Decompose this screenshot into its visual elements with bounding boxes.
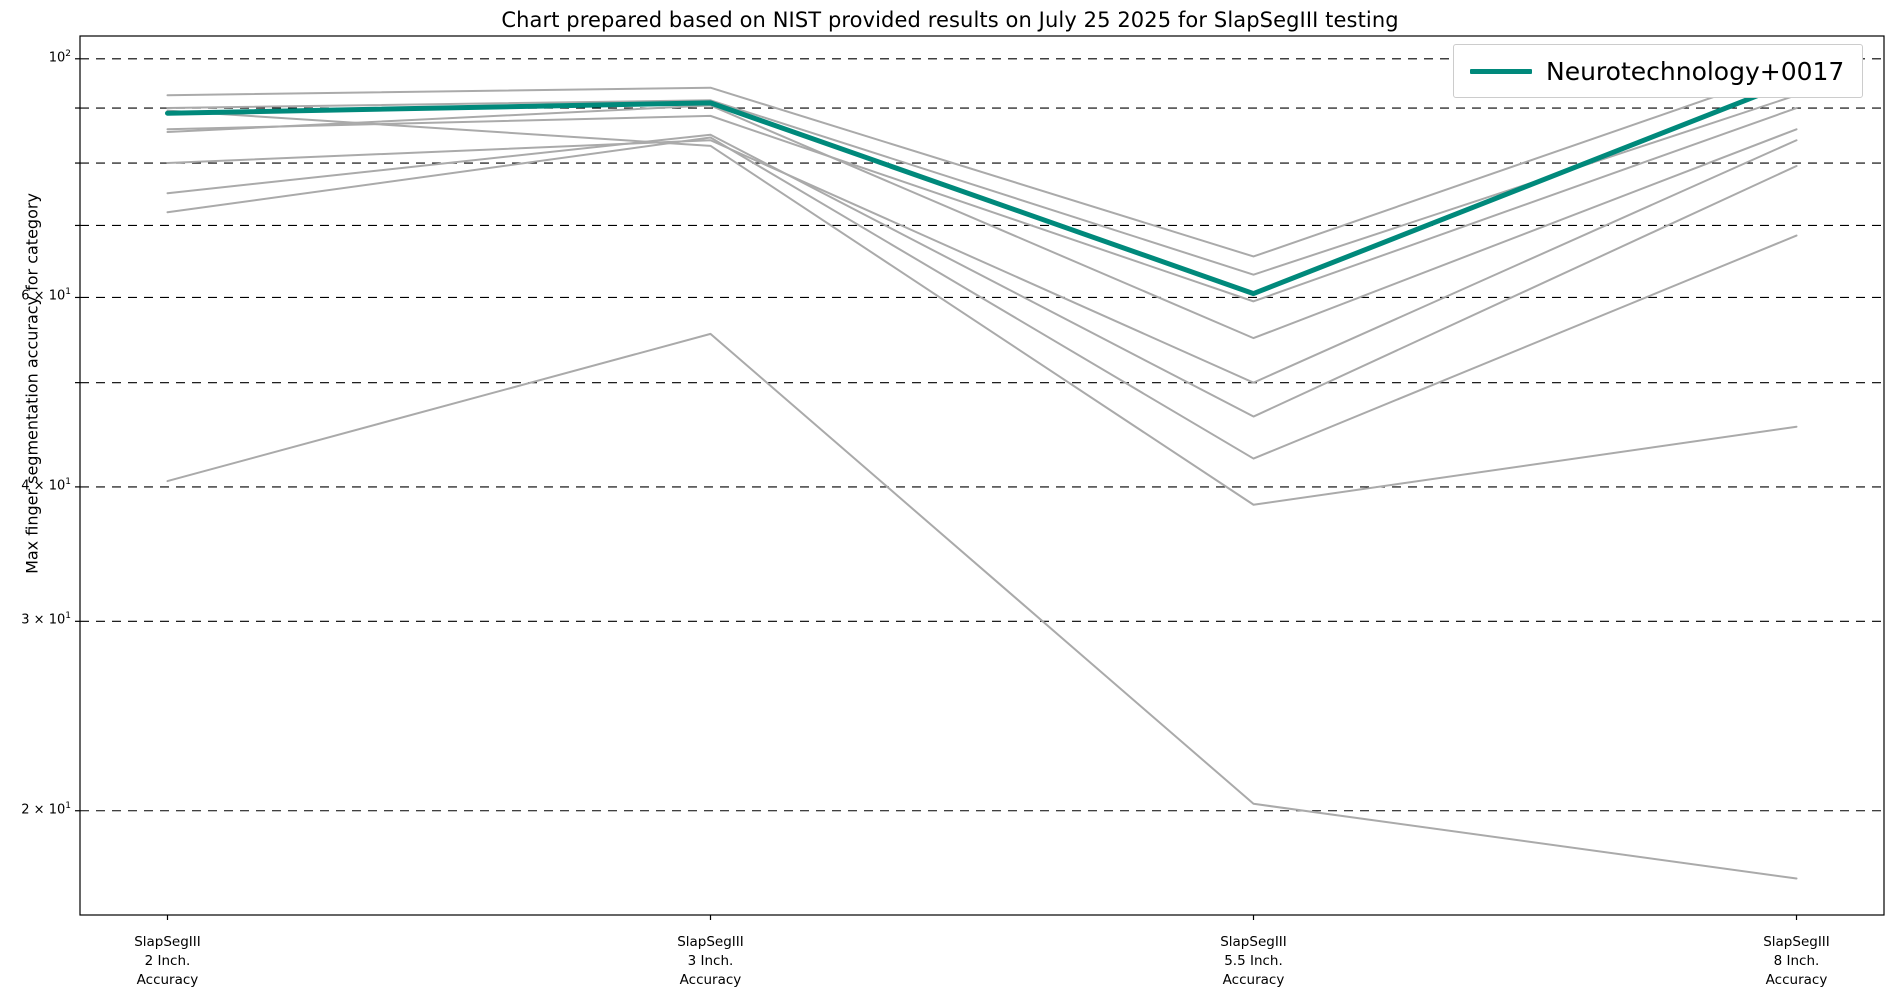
chart-figure: Chart prepared based on NIST provided re… [0, 0, 1900, 1000]
chart-legend[interactable]: Neurotechnology+0017 [1453, 44, 1863, 98]
y-tick-label: 4 × 101 [0, 477, 71, 493]
x-tick-marks [167, 915, 1796, 920]
series-line [167, 105, 1796, 338]
x-tick-label-line: 2 Inch. [27, 952, 307, 971]
series-line [167, 137, 1796, 458]
x-tick-label-line: Accuracy [27, 971, 307, 990]
y-tick-label: 3 × 101 [0, 611, 71, 627]
x-tick-label-line: SlapSegIII [570, 933, 850, 952]
legend-swatch [1470, 69, 1532, 74]
x-tick-label-line: SlapSegIII [1114, 933, 1394, 952]
y-tick-label: 2 × 101 [0, 801, 71, 817]
y-tick-marks [75, 59, 80, 811]
series-line [167, 95, 1796, 274]
x-tick-label-line: Accuracy [570, 971, 850, 990]
series-lines [167, 68, 1796, 878]
x-tick-label: SlapSegIII3 Inch.Accuracy [570, 933, 850, 990]
x-tick-label-line: SlapSegIII [1657, 933, 1900, 952]
x-tick-label-line: 8 Inch. [1657, 952, 1900, 971]
series-line [167, 334, 1796, 879]
axes-frame [80, 36, 1884, 915]
x-tick-label-line: 5.5 Inch. [1114, 952, 1394, 971]
x-tick-label-line: SlapSegIII [27, 933, 307, 952]
x-tick-label-line: Accuracy [1657, 971, 1900, 990]
legend-label: Neurotechnology+0017 [1546, 57, 1862, 86]
x-tick-label-line: 3 Inch. [570, 952, 850, 971]
x-tick-label: SlapSegIII2 Inch.Accuracy [27, 933, 307, 990]
y-tick-label: 102 [0, 49, 71, 65]
x-tick-label-line: Accuracy [1114, 971, 1394, 990]
x-tick-label: SlapSegIII5.5 Inch.Accuracy [1114, 933, 1394, 990]
series-line [167, 108, 1796, 301]
x-tick-label: SlapSegIII8 Inch.Accuracy [1657, 933, 1900, 990]
plot-area [0, 0, 1900, 1000]
series-line [167, 111, 1796, 505]
y-tick-label: 6 × 101 [0, 287, 71, 303]
